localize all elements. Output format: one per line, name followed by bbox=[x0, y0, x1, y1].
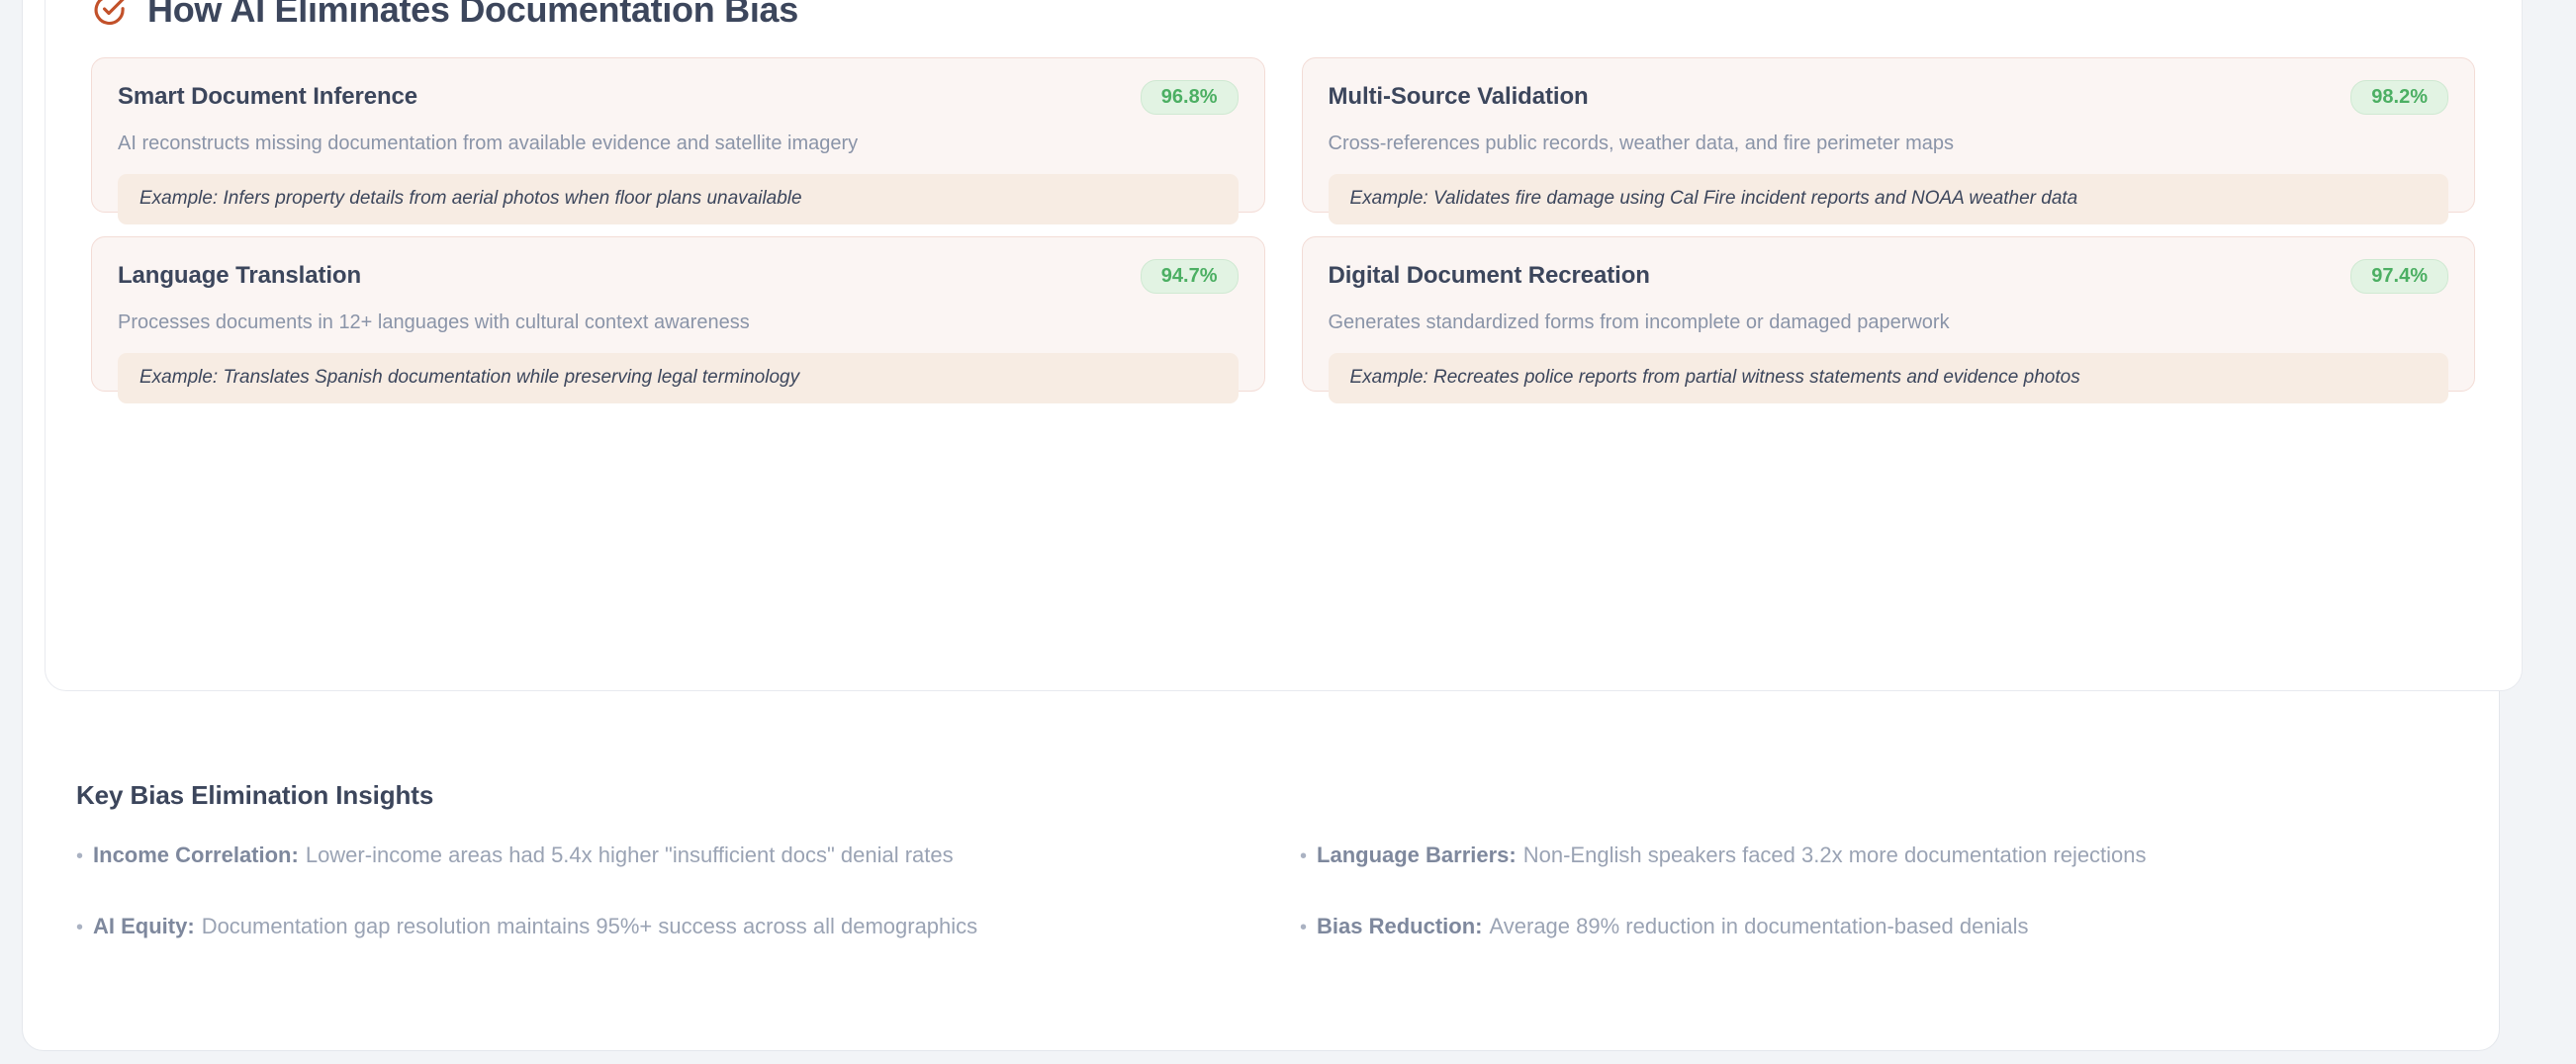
insight-text: Lower-income areas had 5.4x higher "insu… bbox=[306, 842, 954, 868]
circle-check-icon bbox=[91, 0, 127, 28]
feature-card[interactable]: Language Translation 94.7% Processes doc… bbox=[91, 236, 1265, 392]
page-gutter bbox=[2550, 0, 2576, 1064]
insight-text: Average 89% reduction in documentation-b… bbox=[1489, 914, 2028, 939]
feature-card[interactable]: Digital Document Recreation 97.4% Genera… bbox=[1302, 236, 2476, 392]
feature-card-accuracy-badge: 97.4% bbox=[2350, 259, 2448, 294]
insight-text: Non-English speakers faced 3.2x more doc… bbox=[1523, 842, 2147, 868]
page-title: How AI Eliminates Documentation Bias bbox=[147, 0, 798, 28]
feature-card-description: Processes documents in 12+ languages wit… bbox=[118, 310, 1239, 335]
feature-card-title: Smart Document Inference bbox=[118, 84, 417, 110]
feature-card[interactable]: Smart Document Inference 96.8% AI recons… bbox=[91, 57, 1265, 213]
feature-card-title: Multi-Source Validation bbox=[1329, 84, 1589, 110]
insights-list: • Income Correlation: Lower-income areas… bbox=[76, 842, 2490, 957]
feature-card-accuracy-badge: 94.7% bbox=[1141, 259, 1239, 294]
feature-card-description: Generates standardized forms from incomp… bbox=[1329, 310, 2449, 335]
insight-item: • Income Correlation: Lower-income areas… bbox=[76, 842, 1266, 886]
feature-card[interactable]: Multi-Source Validation 98.2% Cross-refe… bbox=[1302, 57, 2476, 213]
feature-card-example: Example: Translates Spanish documentatio… bbox=[118, 353, 1239, 403]
feature-card-header: Digital Document Recreation 97.4% bbox=[1329, 259, 2449, 294]
outer-page-panel: How AI Eliminates Documentation Bias Sma… bbox=[22, 0, 2500, 1051]
insight-label: AI Equity: bbox=[93, 914, 195, 939]
feature-grid: Smart Document Inference 96.8% AI recons… bbox=[91, 57, 2475, 392]
insights-title: Key Bias Elimination Insights bbox=[76, 780, 2490, 811]
feature-card-description: AI reconstructs missing documentation fr… bbox=[118, 132, 1239, 156]
insight-label: Income Correlation: bbox=[93, 842, 299, 868]
feature-card-title: Language Translation bbox=[118, 263, 361, 289]
insight-item: • Bias Reduction: Average 89% reduction … bbox=[1300, 914, 2490, 957]
feature-card-header: Smart Document Inference 96.8% bbox=[118, 80, 1239, 115]
feature-card-example: Example: Infers property details from ae… bbox=[118, 174, 1239, 224]
bullet-icon: • bbox=[1300, 916, 1307, 939]
feature-card-accuracy-badge: 96.8% bbox=[1141, 80, 1239, 115]
bullet-icon: • bbox=[76, 844, 83, 868]
insight-label: Language Barriers: bbox=[1317, 842, 1517, 868]
section-header: How AI Eliminates Documentation Bias bbox=[91, 0, 798, 28]
feature-card-accuracy-badge: 98.2% bbox=[2350, 80, 2448, 115]
feature-panel: How AI Eliminates Documentation Bias Sma… bbox=[45, 0, 2523, 691]
insights-section: Key Bias Elimination Insights • Income C… bbox=[76, 780, 2490, 957]
feature-card-title: Digital Document Recreation bbox=[1329, 263, 1650, 289]
feature-card-header: Multi-Source Validation 98.2% bbox=[1329, 80, 2449, 115]
feature-card-description: Cross-references public records, weather… bbox=[1329, 132, 2449, 156]
insight-item: • Language Barriers: Non-English speaker… bbox=[1300, 842, 2490, 886]
insight-item: • AI Equity: Documentation gap resolutio… bbox=[76, 914, 1266, 957]
bullet-icon: • bbox=[1300, 844, 1307, 868]
feature-card-header: Language Translation 94.7% bbox=[118, 259, 1239, 294]
insight-label: Bias Reduction: bbox=[1317, 914, 1482, 939]
feature-card-example: Example: Validates fire damage using Cal… bbox=[1329, 174, 2449, 224]
insight-text: Documentation gap resolution maintains 9… bbox=[202, 914, 977, 939]
bullet-icon: • bbox=[76, 916, 83, 939]
feature-card-example: Example: Recreates police reports from p… bbox=[1329, 353, 2449, 403]
